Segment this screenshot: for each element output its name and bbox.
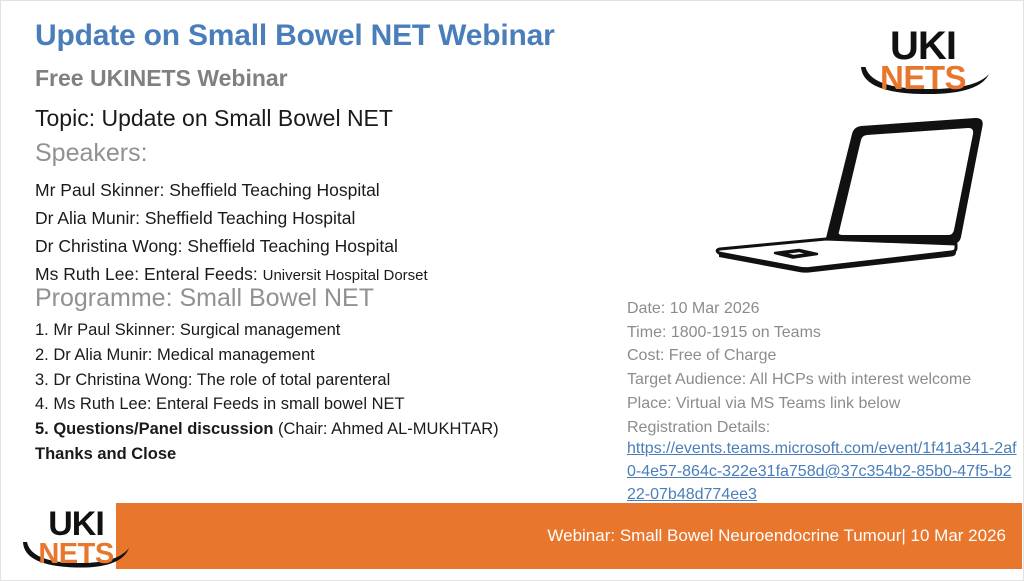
speaker-name: Mr Paul Skinner: Sheffield Teaching Hosp… [35,180,380,200]
svg-text:NETS: NETS [880,59,966,96]
list-item: 3. Dr Christina Wong: The role of total … [35,368,499,393]
programme-heading: Programme: Small Bowel NET [35,284,374,313]
programme-item-text: 1. Mr Paul Skinner: Surgical management [35,321,340,339]
programme-item-bold: Thanks and Close [35,445,176,463]
programme-list: 1. Mr Paul Skinner: Surgical management … [35,318,499,467]
list-item: Thanks and Close [35,442,499,467]
list-item: 5. Questions/Panel discussion (Chair: Ah… [35,417,499,442]
footer-text: Webinar: Small Bowel Neuroendocrine Tumo… [547,526,1006,546]
detail-audience: Target Audience: All HCPs with interest … [627,368,971,392]
list-item: Dr Christina Wong: Sheffield Teaching Ho… [35,233,428,261]
slide-topic: Topic: Update on Small Bowel NET [35,105,393,132]
svg-text:NETS: NETS [38,538,114,570]
detail-time: Time: 1800-1915 on Teams [627,321,971,345]
programme-item-bold: 5. Questions/Panel discussion [35,420,273,438]
programme-item-text: 3. Dr Christina Wong: The role of total … [35,371,390,389]
list-item: 1. Mr Paul Skinner: Surgical management [35,318,499,343]
ukinets-logo-bottom: UKI NETS [21,499,131,571]
programme-item-text: (Chair: Ahmed AL-MUKHTAR) [273,420,498,438]
list-item: 2. Dr Alia Munir: Medical management [35,343,499,368]
event-details: Date: 10 Mar 2026 Time: 1800-1915 on Tea… [627,297,971,439]
speaker-affiliation: Universit Hospital Dorset [263,267,428,284]
speaker-name: Ms Ruth Lee: Enteral Feeds: [35,264,263,284]
slide-subtitle: Free UKINETS Webinar [35,65,288,92]
registration-link[interactable]: https://events.teams.microsoft.com/event… [627,437,1019,507]
speakers-list: Mr Paul Skinner: Sheffield Teaching Hosp… [35,177,428,289]
laptop-icon [713,111,988,276]
ukinets-logo-top: UKI NETS [853,19,993,97]
detail-date: Date: 10 Mar 2026 [627,297,971,321]
list-item: 4. Ms Ruth Lee: Enteral Feeds in small b… [35,392,499,417]
speakers-heading: Speakers: [35,139,148,168]
detail-place: Place: Virtual via MS Teams link below [627,392,971,416]
detail-cost: Cost: Free of Charge [627,344,971,368]
webinar-slide: Update on Small Bowel NET Webinar Free U… [0,0,1024,581]
detail-registration-label: Registration Details: [627,416,971,440]
footer-bar: Webinar: Small Bowel Neuroendocrine Tumo… [116,503,1022,569]
programme-item-text: 2. Dr Alia Munir: Medical management [35,346,315,364]
speaker-name: Dr Alia Munir: Sheffield Teaching Hospit… [35,208,355,228]
programme-item-text: 4. Ms Ruth Lee: Enteral Feeds in small b… [35,395,405,413]
speaker-name: Dr Christina Wong: Sheffield Teaching Ho… [35,236,398,256]
page-title: Update on Small Bowel NET Webinar [35,19,555,53]
list-item: Mr Paul Skinner: Sheffield Teaching Hosp… [35,177,428,205]
list-item: Dr Alia Munir: Sheffield Teaching Hospit… [35,205,428,233]
